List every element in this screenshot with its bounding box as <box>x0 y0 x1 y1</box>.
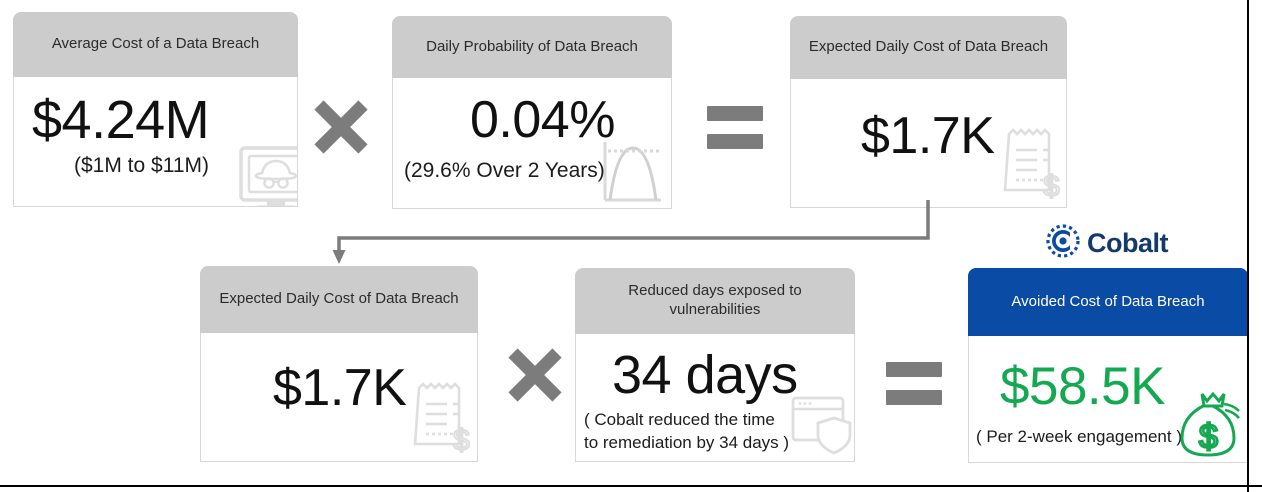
infographic-canvas: Average Cost of a Data Breach $4.24M ($1… <box>0 0 1262 492</box>
equals-operator-row2 <box>886 362 942 405</box>
card-header-daily-probability: Daily Probability of Data Breach <box>392 16 672 78</box>
multiply-icon <box>311 97 371 157</box>
card-header-reduced-days: Reduced days exposed to vulnerabilities <box>575 268 855 334</box>
flow-connector-arrow <box>330 200 940 270</box>
money-bag-dollar-icon: $ <box>1174 388 1248 463</box>
card-header-expected-daily-cost-bottom: Expected Daily Cost of Data Breach <box>200 266 478 333</box>
equals-bar-bottom <box>886 390 942 405</box>
cobalt-logo-text: Cobalt <box>1087 228 1168 259</box>
multiply-icon <box>505 345 565 405</box>
card-body-avoided-cost: $58.5K ( Per 2-week engagement ) $ <box>968 336 1248 463</box>
card-expected-daily-cost-top: Expected Daily Cost of Data Breach $1.7K… <box>790 16 1067 208</box>
value-expected-daily-cost-bottom: $1.7K <box>273 358 406 418</box>
card-body-expected-daily-cost-top: $1.7K $ <box>790 79 1067 208</box>
frame-border-right <box>1247 0 1249 492</box>
note-average-cost: ($1M to $11M) <box>74 153 209 179</box>
card-body-average-cost: $4.24M ($1M to $11M) <box>13 77 298 207</box>
card-body-reduced-days: 34 days ( Cobalt reduced the time to rem… <box>575 334 855 462</box>
card-avoided-cost: Avoided Cost of Data Breach $58.5K ( Per… <box>968 268 1248 463</box>
svg-text:$: $ <box>1043 170 1060 202</box>
bell-curve-chart-icon <box>597 138 665 209</box>
note-reduced-days-line2: to remediation by 34 days ) <box>584 433 789 454</box>
card-header-average-cost: Average Cost of a Data Breach <box>13 12 298 77</box>
browser-shield-icon <box>789 392 855 461</box>
card-daily-probability: Daily Probability of Data Breach 0.04% (… <box>392 16 672 209</box>
equals-operator-row1 <box>707 106 763 149</box>
card-body-daily-probability: 0.04% (29.6% Over 2 Years) <box>392 78 672 209</box>
equals-bar-top <box>886 362 942 377</box>
value-avoided-cost: $58.5K <box>1000 356 1165 417</box>
equals-bar-bottom <box>707 134 763 149</box>
card-body-expected-daily-cost-bottom: $1.7K $ <box>200 333 478 462</box>
card-header-avoided-cost: Avoided Cost of Data Breach <box>968 268 1248 336</box>
value-average-cost: $4.24M <box>32 89 209 151</box>
equals-bar-top <box>707 106 763 121</box>
multiply-operator-row2 <box>505 345 565 405</box>
note-daily-probability: (29.6% Over 2 Years) <box>404 158 605 184</box>
note-reduced-days-line1: ( Cobalt reduced the time <box>584 410 775 431</box>
card-reduced-days: Reduced days exposed to vulnerabilities … <box>575 268 855 462</box>
svg-text:$: $ <box>1199 418 1218 456</box>
value-expected-daily-cost-top: $1.7K <box>861 106 994 166</box>
value-reduced-days: 34 days <box>612 344 798 406</box>
value-daily-probability: 0.04% <box>470 90 615 150</box>
note-avoided-cost: ( Per 2-week engagement ) <box>976 427 1182 448</box>
multiply-operator-row1 <box>311 97 371 157</box>
cobalt-gear-logo-icon <box>1046 224 1080 263</box>
frame-border-bottom <box>0 485 1262 487</box>
cobalt-logo: Cobalt <box>1046 224 1168 263</box>
card-expected-daily-cost-bottom: Expected Daily Cost of Data Breach $1.7K… <box>200 266 478 462</box>
card-average-cost: Average Cost of a Data Breach $4.24M ($1… <box>13 12 298 207</box>
svg-text:$: $ <box>453 424 470 456</box>
card-header-expected-daily-cost-top: Expected Daily Cost of Data Breach <box>790 16 1067 79</box>
invoice-dollar-icon: $ <box>999 124 1067 207</box>
invoice-dollar-icon: $ <box>409 378 478 461</box>
